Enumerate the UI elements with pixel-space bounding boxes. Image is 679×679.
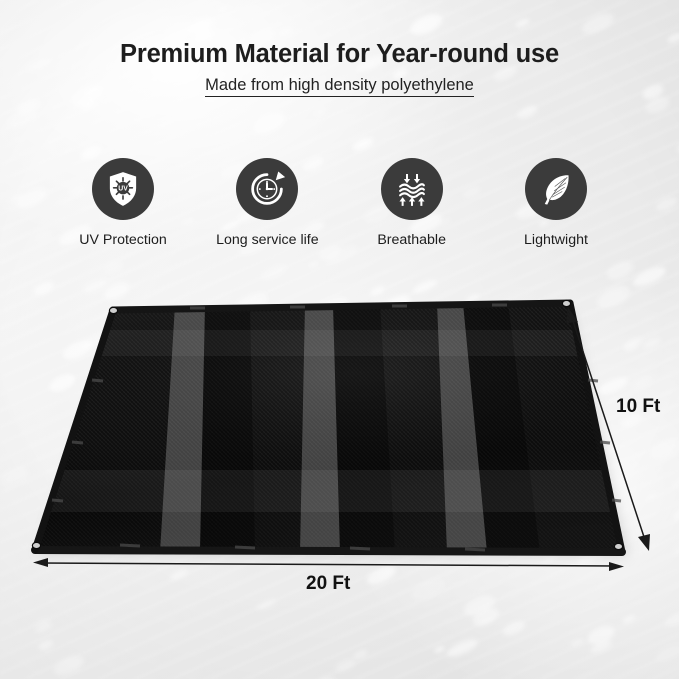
grommet-top-right [563,301,570,306]
grommet-top-left [110,308,117,313]
grommet-bottom-left [33,543,40,548]
dimension-label-height: 10 Ft [616,396,660,418]
dimension-label-width: 20 Ft [306,573,350,595]
dimension-arrow-width [33,558,624,571]
product-feature-image: Premium Material for Year-round use Made… [0,0,679,679]
grommet-bottom-right [615,544,622,549]
